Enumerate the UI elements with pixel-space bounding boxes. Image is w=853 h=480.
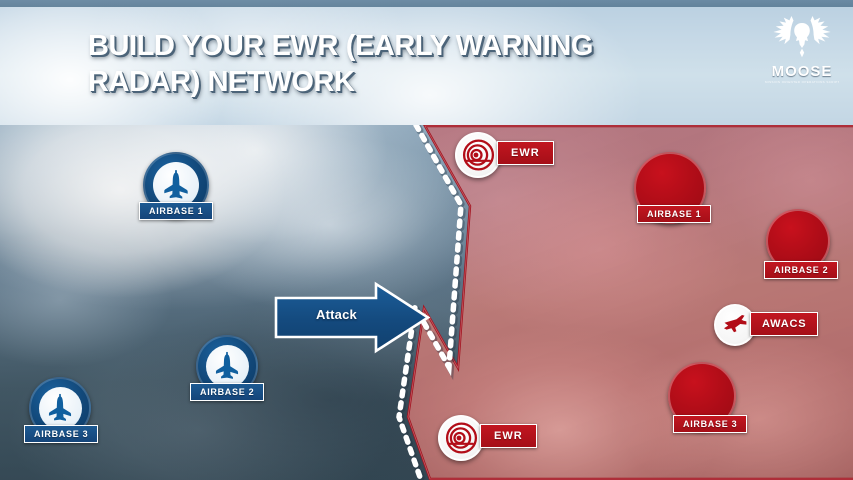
header-top-rule — [0, 0, 853, 7]
awacs-marker[interactable]: AWACS — [714, 304, 756, 346]
moose-subtext: MISSION ORIENTED OPERATIONS SCRIPTING EN… — [765, 80, 839, 85]
blue-airbase-3-marker[interactable]: AIRBASE 3 — [29, 377, 91, 439]
blue-airbase-3-label: AIRBASE 3 — [24, 425, 98, 443]
header-band: BUILD YOUR EWR (EARLY WARNING RADAR) NET… — [0, 0, 853, 125]
ewr-south-marker[interactable]: EWR — [438, 415, 484, 461]
attack-arrow[interactable]: Attack — [272, 280, 432, 355]
blue-airbase-2-marker[interactable]: AIRBASE 2 — [196, 335, 258, 397]
attack-arrow-shape — [272, 280, 432, 355]
blue-airbase-1-label: AIRBASE 1 — [139, 202, 213, 220]
moose-logo[interactable]: MOOSE MISSION ORIENTED OPERATIONS SCRIPT… — [765, 14, 839, 90]
red-airbase-3-marker[interactable]: AIRBASE 3 — [668, 362, 736, 430]
ewr-north-label: EWR — [497, 141, 554, 165]
blue-airbase-1-marker[interactable]: AIRBASE 1 — [143, 152, 209, 218]
red-airbase-1-label: AIRBASE 1 — [637, 205, 711, 223]
jet-aircraft-icon — [206, 345, 249, 388]
slide-canvas: Attack AIRBASE 1 — [0, 0, 853, 480]
red-airbase-2-label: AIRBASE 2 — [764, 261, 838, 279]
radar-icon[interactable] — [438, 415, 484, 461]
moose-wordmark: MOOSE — [765, 65, 839, 79]
awacs-label: AWACS — [750, 312, 818, 336]
ewr-north-marker[interactable]: EWR — [455, 132, 501, 178]
ewr-south-label: EWR — [480, 424, 537, 448]
page-title: BUILD YOUR EWR (EARLY WARNING RADAR) NET… — [88, 28, 708, 100]
blue-airbase-2-label: AIRBASE 2 — [190, 383, 264, 401]
red-airbase-2-marker[interactable]: AIRBASE 2 — [766, 209, 830, 273]
red-airbase-1-marker[interactable]: AIRBASE 1 — [634, 152, 706, 224]
jet-aircraft-icon — [39, 387, 82, 430]
red-airbase-3-label: AIRBASE 3 — [673, 415, 747, 433]
moose-antlers-icon — [771, 14, 833, 64]
radar-icon[interactable] — [455, 132, 501, 178]
